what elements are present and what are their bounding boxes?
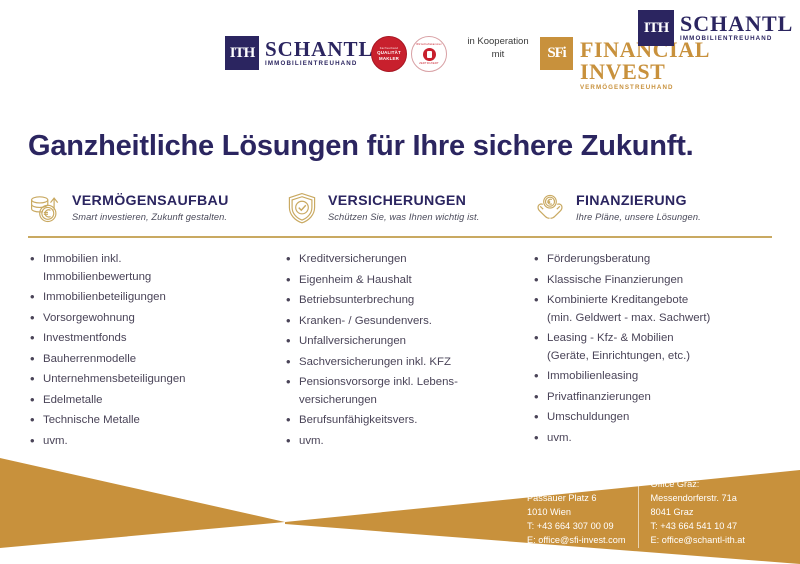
office-graz-label: Office Graz: xyxy=(651,478,745,492)
list-item: Förderungsberatung xyxy=(532,250,762,268)
column-vermoegensaufbau: VERMÖGENSAUFBAU Smart investieren, Zukun… xyxy=(28,186,276,452)
column-2-header: VERSICHERUNGEN Schützen Sie, was Ihnen w… xyxy=(284,186,514,230)
schantl-tagline: IMMOBILIENTREUHAND xyxy=(265,61,374,67)
list-item: Kombinierte Kreditangebote xyxy=(532,291,762,309)
logo-bar: ITH SCHANTL IMMOBILIENTREUHAND Fachverba… xyxy=(0,0,800,100)
list-item: Kranken- / Gesundenvers. xyxy=(284,312,514,330)
office-wien-city: 1010 Wien xyxy=(527,506,626,520)
office-graz-street: Messendorferstr. 71a xyxy=(651,492,745,506)
list-item: Vorsorgewohnung xyxy=(28,309,266,327)
list-item: Immobilienleasing xyxy=(532,367,762,385)
list-item: Umschuldungen xyxy=(532,408,762,426)
page-headline: Ganzheitliche Lösungen für Ihre sichere … xyxy=(28,130,694,163)
logo-schantl-right: ITH SCHANTL IMMOBILIENTREUHAND xyxy=(638,10,793,46)
seal-b-top: Wirtschaftskammer xyxy=(416,43,442,46)
list-item: Investmentfonds xyxy=(28,329,266,347)
schantl-tagline-right: IMMOBILIENTREUHAND xyxy=(680,36,793,42)
column-1-title: VERMÖGENSAUFBAU xyxy=(72,194,229,210)
column-3-list: Förderungsberatung Klassische Finanzieru… xyxy=(532,250,762,447)
list-item: Berufsunfähigkeitsvers. xyxy=(284,411,514,429)
schantl-wordmark-right: SCHANTL IMMOBILIENTREUHAND xyxy=(680,13,793,42)
office-graz-email[interactable]: E: office@schantl-ith.at xyxy=(651,534,745,548)
seal-a-top: Fachverband xyxy=(380,47,399,50)
list-item: (Geräte, Einrichtungen, etc.) xyxy=(532,347,762,365)
column-1-header: VERMÖGENSAUFBAU Smart investieren, Zukun… xyxy=(28,186,266,230)
list-item: Bauherrenmodelle xyxy=(28,350,266,368)
austria-crest-seal-icon: Wirtschaftskammer ZERTIFIZIERT xyxy=(411,36,447,72)
seal-b-bottom: ZERTIFIZIERT xyxy=(419,62,439,65)
list-item: Leasing - Kfz- & Mobilien xyxy=(532,329,762,347)
column-2-list: Kreditversicherungen Eigenheim & Haushal… xyxy=(284,250,514,450)
column-3-subtitle: Ihre Pläne, unsere Lösungen. xyxy=(576,212,701,222)
coins-euro-growth-icon xyxy=(28,190,64,226)
column-finanzierung: FINANZIERUNG Ihre Pläne, unsere Lösungen… xyxy=(524,186,772,452)
service-columns: VERMÖGENSAUFBAU Smart investieren, Zukun… xyxy=(28,186,772,452)
list-item: Betriebsunterbrechung xyxy=(284,291,514,309)
seal-a-mid2: MAKLER xyxy=(379,56,399,62)
list-item: Technische Metalle xyxy=(28,411,266,429)
column-2-subtitle: Schützen Sie, was Ihnen wichtig ist. xyxy=(328,212,479,222)
office-wien-block: Office Wien: Passauer Platz 6 1010 Wien … xyxy=(527,478,639,548)
schantl-wordmark: SCHANTL IMMOBILIENTREUHAND xyxy=(265,39,374,67)
office-wien-email[interactable]: E: office@sfi-invest.com xyxy=(527,534,626,548)
ith-monogram-text: ITH xyxy=(230,45,255,62)
list-item: Immobilienbeteiligungen xyxy=(28,288,266,306)
list-item: Unternehmensbeteiligungen xyxy=(28,370,266,388)
office-wien-label: Office Wien: xyxy=(527,478,626,492)
austria-crest-icon xyxy=(423,48,436,61)
footer-contacts: Office Wien: Passauer Platz 6 1010 Wien … xyxy=(527,478,745,548)
shield-check-icon xyxy=(284,190,320,226)
column-1-titles: VERMÖGENSAUFBAU Smart investieren, Zukun… xyxy=(72,194,229,223)
office-wien-street: Passauer Platz 6 xyxy=(527,492,626,506)
sfi-monogram-icon: SFi xyxy=(540,37,573,70)
qualitaets-makler-seal-icon: Fachverband QUALITÄT MAKLER xyxy=(371,36,407,72)
ith-monogram-icon: ITH xyxy=(225,36,259,70)
list-item: Eigenheim & Haushalt xyxy=(284,271,514,289)
list-item: Privatfinanzierungen xyxy=(532,388,762,406)
list-item: Edelmetalle xyxy=(28,391,266,409)
office-graz-block: Office Graz: Messendorferstr. 71a 8041 G… xyxy=(639,478,745,548)
cooperation-label: in Kooperation mit xyxy=(462,36,534,62)
office-graz-phone[interactable]: T: +43 664 541 10 47 xyxy=(651,520,745,534)
hands-holding-coin-icon xyxy=(532,190,568,226)
column-versicherungen: VERSICHERUNGEN Schützen Sie, was Ihnen w… xyxy=(276,186,524,452)
list-item: Kreditversicherungen xyxy=(284,250,514,268)
list-item: versicherungen xyxy=(284,391,514,409)
logo-schantl-left: ITH SCHANTL IMMOBILIENTREUHAND xyxy=(225,36,374,70)
column-1-list: Immobilien inkl. Immobilienbewertung Imm… xyxy=(28,250,266,450)
column-3-titles: FINANZIERUNG Ihre Pläne, unsere Lösungen… xyxy=(576,194,701,223)
sfi-tagline: VERMÖGENSTREUHAND xyxy=(580,85,800,91)
list-item: Immobilien inkl. xyxy=(28,250,266,268)
column-3-header: FINANZIERUNG Ihre Pläne, unsere Lösungen… xyxy=(532,186,762,230)
schantl-name-right: SCHANTL xyxy=(680,13,793,35)
list-item: Unfallversicherungen xyxy=(284,332,514,350)
column-2-titles: VERSICHERUNGEN Schützen Sie, was Ihnen w… xyxy=(328,194,479,223)
list-item: Immobilienbewertung xyxy=(28,268,266,286)
list-item: Sachversicherungen inkl. KFZ xyxy=(284,353,514,371)
list-item: (min. Geldwert - max. Sachwert) xyxy=(532,309,762,327)
sfi-monogram-text: SFi xyxy=(547,45,565,62)
column-3-title: FINANZIERUNG xyxy=(576,194,701,210)
column-2-title: VERSICHERUNGEN xyxy=(328,194,479,210)
office-wien-phone[interactable]: T: +43 664 307 00 09 xyxy=(527,520,626,534)
schantl-name: SCHANTL xyxy=(265,39,374,60)
ith-monogram-text-right: ITH xyxy=(644,20,669,37)
column-1-subtitle: Smart investieren, Zukunft gestalten. xyxy=(72,212,229,222)
list-item: Pensionsvorsorge inkl. Lebens- xyxy=(284,373,514,391)
list-item: Klassische Finanzierungen xyxy=(532,271,762,289)
ith-monogram-icon-right: ITH xyxy=(638,10,674,46)
office-graz-city: 8041 Graz xyxy=(651,506,745,520)
certification-seals: Fachverband QUALITÄT MAKLER Wirtschaftsk… xyxy=(371,36,447,72)
